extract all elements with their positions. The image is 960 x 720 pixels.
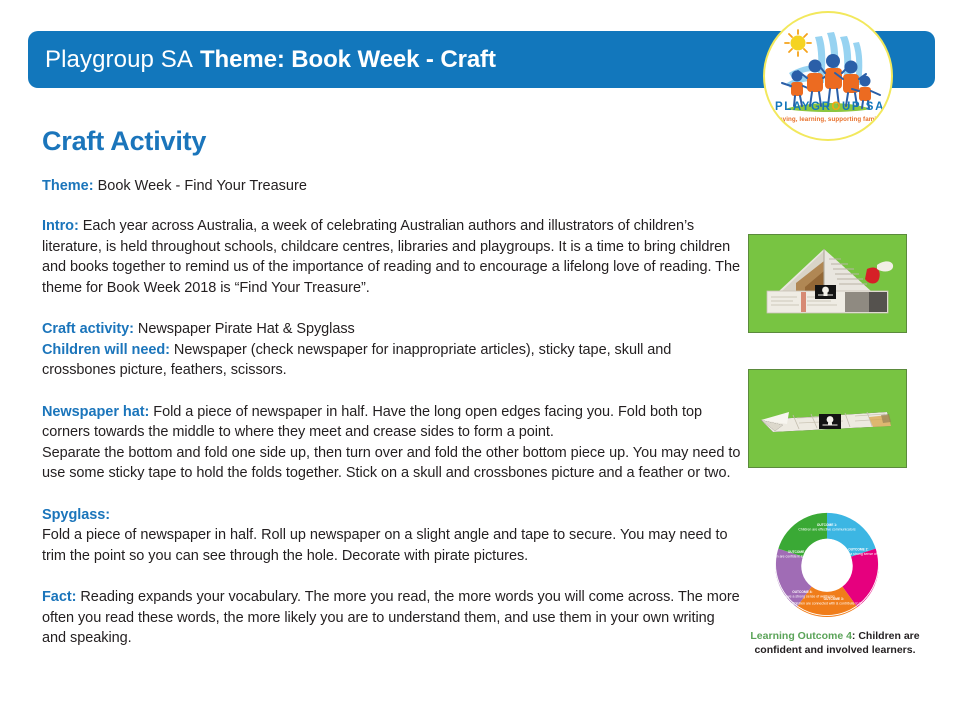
intro-label: Intro: <box>42 218 79 234</box>
wheel-seg-4-label: OUTCOME 4: <box>792 590 812 594</box>
header-theme-title: Theme: Book Week - Craft <box>200 46 496 73</box>
fact-paragraph: Fact: Reading expands your vocabulary. T… <box>42 587 742 649</box>
newspaper-hat-label: Newspaper hat: <box>42 404 149 420</box>
wheel-seg-1-label: OUTCOME 1: <box>817 523 837 527</box>
sun-icon <box>785 30 811 56</box>
logo-tagline: Playing, learning, supporting families <box>765 116 893 123</box>
wheel-seg-1-text: Children are effective communicators <box>798 527 855 531</box>
craft-activity-text: Newspaper Pirate Hat & Spyglass <box>134 321 355 337</box>
wheel-seg-5-label: OUTCOME 5: <box>788 550 808 554</box>
page-title: Craft Activity <box>42 126 206 157</box>
fact-text: Reading expands your vocabulary. The mor… <box>42 589 740 646</box>
learning-outcome-highlight: Learning Outcome 4 <box>750 630 852 642</box>
header-title: Playgroup SATheme: Book Week - Craft <box>45 44 496 76</box>
logo-wordmark-part1: PLAYGR <box>775 101 831 113</box>
wheel-seg-2-label: OUTCOME 2: <box>848 548 868 552</box>
playgroup-sa-logo: PLAYGROUP SA Playing, learning, supporti… <box>763 11 893 141</box>
newspaper-pirate-hat-photo <box>748 234 907 333</box>
wheel-seg-3-text: Children are connected with & contribute… <box>792 601 875 605</box>
craft-activity-label: Craft activity: <box>42 321 134 337</box>
learning-outcome-caption: Learning Outcome 4: Children are confide… <box>740 629 930 657</box>
pirate-hat-illustration <box>749 235 906 332</box>
newspaper-hat-paragraph-2: Separate the bottom and fold one side up… <box>42 443 742 484</box>
fact-label: Fact: <box>42 589 76 605</box>
wheel-seg-5-text: Children are confident & involved learne… <box>768 554 830 558</box>
craft-activity-paragraph: Craft activity: Newspaper Pirate Hat & S… <box>42 319 742 340</box>
theme-value: Book Week - Find Your Treasure <box>94 178 307 194</box>
intro-text: Each year across Australia, a week of ce… <box>42 218 740 296</box>
theme-line: Theme: Book Week - Find Your Treasure <box>42 177 307 196</box>
spyglass-text: Fold a piece of newspaper in half. Roll … <box>42 525 742 566</box>
spyglass-illustration <box>749 370 906 467</box>
children-will-need-paragraph: Children will need: Newspaper (check new… <box>42 340 742 381</box>
outcome-wheel-chart: OUTCOME 1: Children are effective commun… <box>768 508 886 620</box>
wheel-seg-4-text: Children have a strong sense of wellbein… <box>770 595 834 599</box>
logo-wordmark: PLAYGROUP SA <box>765 101 893 113</box>
content-column: Intro: Each year across Australia, a wee… <box>42 216 742 649</box>
intro-paragraph: Intro: Each year across Australia, a wee… <box>42 216 742 298</box>
eylf-learning-outcomes-wheel: OUTCOME 1: Children are effective commun… <box>768 508 886 620</box>
logo-wordmark-part2: UP SA <box>842 101 885 113</box>
wheel-seg-2-text: Children have a strong sense of identity <box>828 552 886 556</box>
newspaper-spyglass-photo <box>748 369 907 468</box>
children-will-need-label: Children will need: <box>42 342 170 358</box>
brand-name: Playgroup SA <box>45 46 193 73</box>
logo-wordmark-o: O <box>831 101 842 113</box>
theme-label: Theme: <box>42 178 94 194</box>
spyglass-label: Spyglass: <box>42 505 742 526</box>
newspaper-hat-paragraph: Newspaper hat: Fold a piece of newspaper… <box>42 402 742 443</box>
